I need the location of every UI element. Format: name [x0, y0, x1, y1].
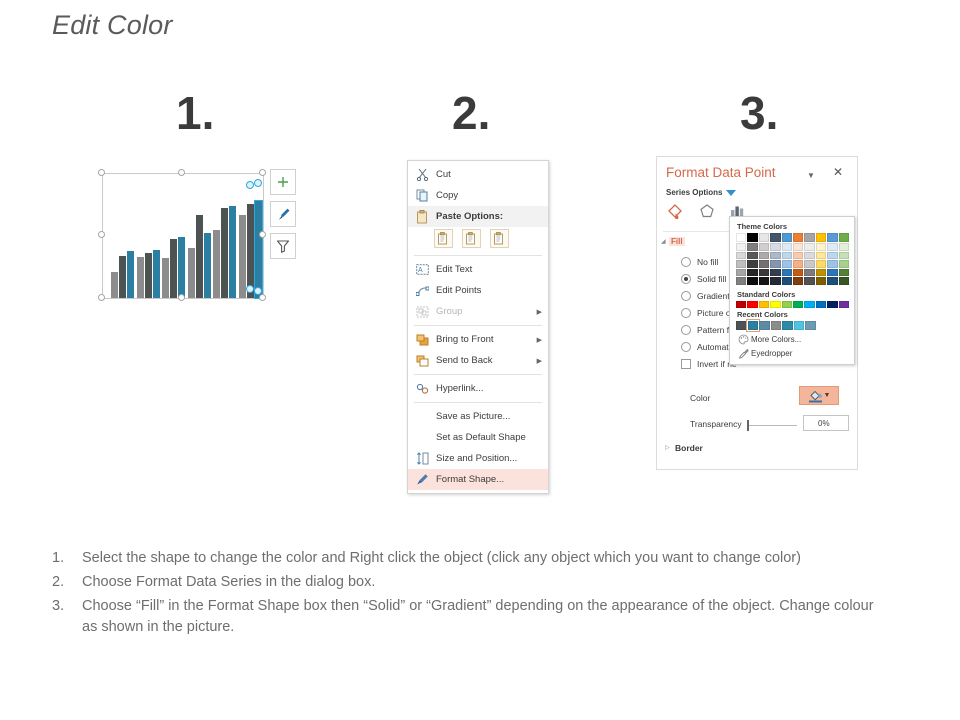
recent-color-swatch[interactable] [805, 321, 816, 330]
group-icon [412, 304, 432, 320]
submenu-arrow-icon: ▶ [537, 308, 542, 316]
chart-bar[interactable] [162, 258, 169, 298]
theme-color-swatch[interactable] [770, 269, 780, 277]
theme-color-swatch[interactable] [827, 243, 837, 251]
standard-color-swatch[interactable] [793, 301, 803, 309]
data-point-handle-bottom-2[interactable] [254, 287, 262, 295]
border-section-triangle-icon[interactable]: ▷ [665, 444, 670, 451]
instruction-item: 2.Choose Format Data Series in the dialo… [52, 572, 892, 593]
size-position-icon [412, 451, 432, 467]
instruction-item: 1.Select the shape to change the color a… [52, 548, 892, 569]
more-colors-item[interactable]: More Colors... [736, 332, 849, 346]
recent-color-swatch[interactable] [794, 321, 805, 330]
menu-item-label: Size and Position... [432, 453, 517, 464]
none [412, 430, 432, 446]
submenu-arrow-icon: ▶ [537, 357, 542, 365]
chart-panel [94, 165, 304, 305]
eyedropper-icon [736, 348, 751, 359]
data-point-handle-bottom-1[interactable] [246, 285, 254, 293]
theme-color-swatch[interactable] [793, 252, 803, 260]
fill-option-label: No fill [697, 257, 718, 267]
color-label: Color [690, 393, 710, 403]
menu-item-save-as-picture[interactable]: Save as Picture... [408, 406, 548, 427]
theme-color-swatch[interactable] [747, 277, 757, 285]
bar-group[interactable] [213, 206, 238, 298]
recent-color-swatch[interactable] [771, 321, 782, 330]
paste-picture-icon[interactable] [490, 229, 509, 248]
hyperlink-icon [412, 381, 432, 397]
theme-color-swatch[interactable] [759, 233, 769, 242]
theme-color-swatch[interactable] [793, 243, 803, 251]
theme-color-swatch[interactable] [782, 269, 792, 277]
menu-item-label: Copy [432, 190, 458, 201]
standard-color-swatch[interactable] [804, 301, 814, 309]
step-number-1: 1. [176, 86, 214, 140]
theme-color-swatch[interactable] [827, 252, 837, 260]
theme-color-swatch[interactable] [747, 260, 757, 268]
theme-color-swatch[interactable] [736, 277, 746, 285]
theme-color-swatch[interactable] [827, 269, 837, 277]
menu-separator [414, 325, 542, 326]
menu-item-label: Save as Picture... [432, 411, 510, 422]
theme-color-swatch[interactable] [816, 277, 826, 285]
paste-options-row[interactable] [408, 227, 548, 252]
bring-front-icon [412, 332, 432, 348]
chart-bar[interactable] [221, 208, 228, 298]
fill-line-icon[interactable] [666, 203, 685, 221]
theme-color-swatch[interactable] [782, 277, 792, 285]
bar-group[interactable] [111, 251, 136, 298]
theme-color-swatch[interactable] [736, 252, 746, 260]
theme-color-swatch[interactable] [770, 243, 780, 251]
chart-bar[interactable] [119, 256, 126, 298]
radio-button[interactable] [681, 342, 691, 352]
more-colors-label: More Colors... [751, 335, 801, 344]
chart-selection-frame[interactable] [102, 173, 264, 299]
theme-color-swatch[interactable] [839, 277, 849, 285]
transparency-label: Transparency [690, 419, 742, 429]
menu-item-paste-options[interactable]: Paste Options: [408, 206, 548, 227]
theme-color-swatch[interactable] [736, 243, 746, 251]
selection-handle-ml[interactable] [98, 231, 105, 238]
chart-bar[interactable] [239, 215, 246, 298]
instruction-text: Choose Format Data Series in the dialog … [82, 572, 892, 593]
theme-color-swatch[interactable] [816, 233, 826, 242]
standard-color-swatch[interactable] [827, 301, 837, 309]
chart-bar[interactable] [255, 201, 262, 298]
context-menu[interactable]: CutCopyPaste Options:AEdit TextEdit Poin… [407, 160, 549, 494]
chart-styles-icon[interactable] [270, 201, 296, 227]
menu-item-label: Set as Default Shape [432, 432, 526, 443]
chart-tools [270, 169, 296, 265]
theme-color-swatch[interactable] [839, 233, 849, 242]
menu-item-label: Hyperlink... [432, 383, 484, 394]
eyedropper-item[interactable]: Eyedropper [736, 346, 849, 360]
bar-group[interactable] [162, 237, 187, 298]
menu-item-label: Send to Back [432, 355, 493, 366]
chart-bar[interactable] [145, 253, 152, 298]
chart-bar[interactable] [213, 230, 220, 298]
format-shape-icon [412, 472, 432, 488]
selection-handle-br[interactable] [259, 294, 266, 301]
theme-color-swatch[interactable] [804, 252, 814, 260]
theme-color-swatch[interactable] [839, 269, 849, 277]
theme-color-swatch[interactable] [839, 260, 849, 268]
theme-color-swatch[interactable] [804, 269, 814, 277]
none [412, 409, 432, 425]
color-button-chevron-icon[interactable]: ▼ [824, 392, 831, 399]
standard-color-swatch[interactable] [759, 301, 769, 309]
series-options-chevron-icon[interactable] [725, 188, 737, 198]
standard-color-swatch[interactable] [770, 301, 780, 309]
close-icon[interactable]: ✕ [833, 165, 843, 179]
instruction-item: 3.Choose “Fill” in the Format Shape box … [52, 596, 892, 638]
chart-bar[interactable] [178, 237, 185, 298]
instruction-text: Select the shape to change the color and… [82, 548, 892, 569]
menu-item-cut[interactable]: Cut [408, 164, 548, 185]
chart-bar[interactable] [196, 215, 203, 298]
recent-color-swatch[interactable] [736, 321, 747, 330]
chart-bar[interactable] [247, 204, 254, 298]
theme-color-swatch[interactable] [770, 260, 780, 268]
theme-color-swatch[interactable] [782, 252, 792, 260]
instructions-list: 1.Select the shape to change the color a… [52, 548, 892, 641]
theme-color-swatch[interactable] [759, 243, 769, 251]
copy-icon [412, 188, 432, 204]
theme-color-swatch[interactable] [736, 233, 746, 242]
theme-color-swatch[interactable] [793, 269, 803, 277]
menu-separator [414, 255, 542, 256]
menu-item-label: Paste Options: [432, 211, 503, 222]
recent-color-swatch[interactable] [759, 321, 770, 330]
chart-bar[interactable] [153, 250, 160, 298]
standard-color-swatch[interactable] [747, 301, 757, 309]
theme-color-swatch[interactable] [793, 260, 803, 268]
instruction-number: 1. [52, 548, 82, 569]
menu-separator [414, 402, 542, 403]
edit-text-icon: A [412, 262, 432, 278]
fill-section-header[interactable]: Fill [669, 237, 685, 246]
send-back-icon [412, 353, 432, 369]
chart-bar[interactable] [170, 239, 177, 298]
color-picker-dropdown[interactable]: Theme Colors Standard Colors Recent Colo… [729, 216, 855, 365]
menu-item-label: Format Shape... [432, 474, 504, 485]
checkbox[interactable] [681, 359, 691, 369]
selection-handle-tc[interactable] [178, 169, 185, 176]
radio-button[interactable] [681, 308, 691, 318]
selection-handle-mr[interactable] [259, 231, 266, 238]
theme-color-swatch[interactable] [770, 277, 780, 285]
menu-item-send-to-back[interactable]: Send to Back▶ [408, 350, 548, 371]
theme-color-swatch[interactable] [827, 233, 837, 242]
theme-color-swatch[interactable] [816, 269, 826, 277]
chart-plot-area[interactable] [103, 174, 263, 298]
theme-color-swatch[interactable] [736, 260, 746, 268]
chart-filters-icon[interactable] [270, 233, 296, 259]
theme-color-swatch[interactable] [759, 252, 769, 260]
fill-option-label: Picture or [697, 308, 733, 318]
recent-colors-row[interactable] [736, 321, 849, 330]
menu-item-bring-to-front[interactable]: Bring to Front▶ [408, 329, 548, 350]
menu-item-edit-text[interactable]: AEdit Text [408, 259, 548, 280]
theme-color-swatch[interactable] [736, 269, 746, 277]
page-title: Edit Color [52, 10, 173, 41]
theme-color-swatch[interactable] [816, 252, 826, 260]
theme-color-swatch[interactable] [816, 260, 826, 268]
radio-button[interactable] [681, 325, 691, 335]
menu-item-hyperlink[interactable]: Hyperlink... [408, 378, 548, 399]
bar-group[interactable] [137, 250, 162, 298]
menu-separator [414, 374, 542, 375]
menu-item-set-as-default-shape[interactable]: Set as Default Shape [408, 427, 548, 448]
theme-color-swatch[interactable] [747, 233, 757, 242]
chart-bar[interactable] [111, 272, 118, 298]
menu-item-label: Edit Text [432, 264, 472, 275]
menu-item-size-and-position[interactable]: Size and Position... [408, 448, 548, 469]
data-point-handle-top-1[interactable] [246, 181, 254, 189]
theme-color-swatch[interactable] [793, 233, 803, 242]
theme-color-swatch[interactable] [827, 260, 837, 268]
selection-handle-tl[interactable] [98, 169, 105, 176]
edit-points-icon [412, 283, 432, 299]
submenu-arrow-icon: ▶ [537, 336, 542, 344]
theme-color-swatch[interactable] [770, 252, 780, 260]
menu-item-label: Edit Points [432, 285, 481, 296]
selection-handle-bl[interactable] [98, 294, 105, 301]
scissors-icon [412, 167, 432, 183]
paste-keep-source-icon[interactable] [434, 229, 453, 248]
theme-color-swatch[interactable] [759, 277, 769, 285]
step-number-2: 2. [452, 86, 490, 140]
selection-handle-tr[interactable] [259, 169, 266, 176]
chart-bar[interactable] [188, 248, 195, 298]
pane-title: Format Data Point [666, 165, 776, 180]
radio-button[interactable] [681, 291, 691, 301]
theme-color-swatch[interactable] [804, 277, 814, 285]
bar-group[interactable] [239, 201, 264, 298]
theme-color-swatch[interactable] [804, 243, 814, 251]
chart-bar[interactable] [204, 233, 211, 298]
theme-color-swatch[interactable] [782, 233, 792, 242]
menu-item-label: Cut [432, 169, 451, 180]
radio-button[interactable] [681, 257, 691, 267]
transparency-slider-track[interactable] [749, 425, 797, 426]
theme-color-swatch[interactable] [782, 243, 792, 251]
fill-option-label: Solid fill [697, 274, 726, 284]
theme-color-swatch[interactable] [747, 269, 757, 277]
eyedropper-label: Eyedropper [751, 349, 792, 358]
data-point-handle-top-2[interactable] [254, 179, 262, 187]
theme-color-swatch[interactable] [747, 252, 757, 260]
recent-color-swatch[interactable] [782, 321, 793, 330]
radio-button[interactable] [681, 274, 691, 284]
menu-item-copy[interactable]: Copy [408, 185, 548, 206]
recent-colors-heading: Recent Colors [737, 310, 849, 319]
theme-color-swatch[interactable] [827, 277, 837, 285]
selection-handle-bc[interactable] [178, 294, 185, 301]
theme-color-swatch[interactable] [782, 260, 792, 268]
chart-bar[interactable] [127, 251, 134, 298]
transparency-slider-knob[interactable] [747, 420, 749, 431]
menu-item-format-shape[interactable]: Format Shape... [408, 469, 548, 490]
theme-color-swatch[interactable] [793, 277, 803, 285]
theme-color-swatch[interactable] [747, 243, 757, 251]
theme-color-swatch[interactable] [816, 243, 826, 251]
standard-colors-row[interactable] [736, 301, 849, 309]
menu-item-label: Bring to Front [432, 334, 494, 345]
menu-item-label: Group [432, 306, 462, 317]
standard-colors-heading: Standard Colors [737, 290, 849, 299]
step-number-3: 3. [740, 86, 778, 140]
fill-section-triangle-icon[interactable]: ◢ [661, 238, 666, 245]
instruction-number: 2. [52, 572, 82, 593]
theme-color-swatch[interactable] [759, 269, 769, 277]
series-options-label[interactable]: Series Options [666, 188, 722, 197]
chart-bar[interactable] [137, 257, 144, 298]
chart-bar[interactable] [229, 206, 236, 298]
transparency-value-input[interactable]: 0% [803, 415, 849, 431]
paste-icon [412, 209, 432, 225]
standard-color-swatch[interactable] [839, 301, 849, 309]
standard-color-swatch[interactable] [782, 301, 792, 309]
theme-colors-heading: Theme Colors [737, 222, 849, 231]
theme-color-swatch[interactable] [804, 260, 814, 268]
instruction-text: Choose “Fill” in the Format Shape box th… [82, 596, 892, 638]
chart-elements-icon[interactable] [270, 169, 296, 195]
theme-color-swatch[interactable] [770, 233, 780, 242]
paste-keep-format-icon[interactable] [462, 229, 481, 248]
theme-color-swatch[interactable] [839, 252, 849, 260]
menu-item-group[interactable]: Group▶ [408, 301, 548, 322]
theme-color-swatch[interactable] [839, 243, 849, 251]
border-section-header[interactable]: Border [675, 443, 703, 453]
palette-icon [736, 334, 751, 345]
menu-item-edit-points[interactable]: Edit Points [408, 280, 548, 301]
color-button[interactable]: ▼ [799, 386, 839, 405]
instruction-number: 3. [52, 596, 82, 638]
theme-color-swatch[interactable] [804, 233, 814, 242]
standard-color-swatch[interactable] [816, 301, 826, 309]
theme-color-swatch[interactable] [759, 260, 769, 268]
svg-text:A: A [418, 267, 423, 274]
theme-colors-grid[interactable] [736, 233, 849, 285]
effects-icon[interactable] [698, 203, 716, 221]
chevron-down-icon[interactable]: ▼ [807, 171, 815, 180]
standard-color-swatch[interactable] [736, 301, 746, 309]
recent-color-swatch[interactable] [748, 321, 759, 330]
bar-group[interactable] [188, 215, 213, 298]
